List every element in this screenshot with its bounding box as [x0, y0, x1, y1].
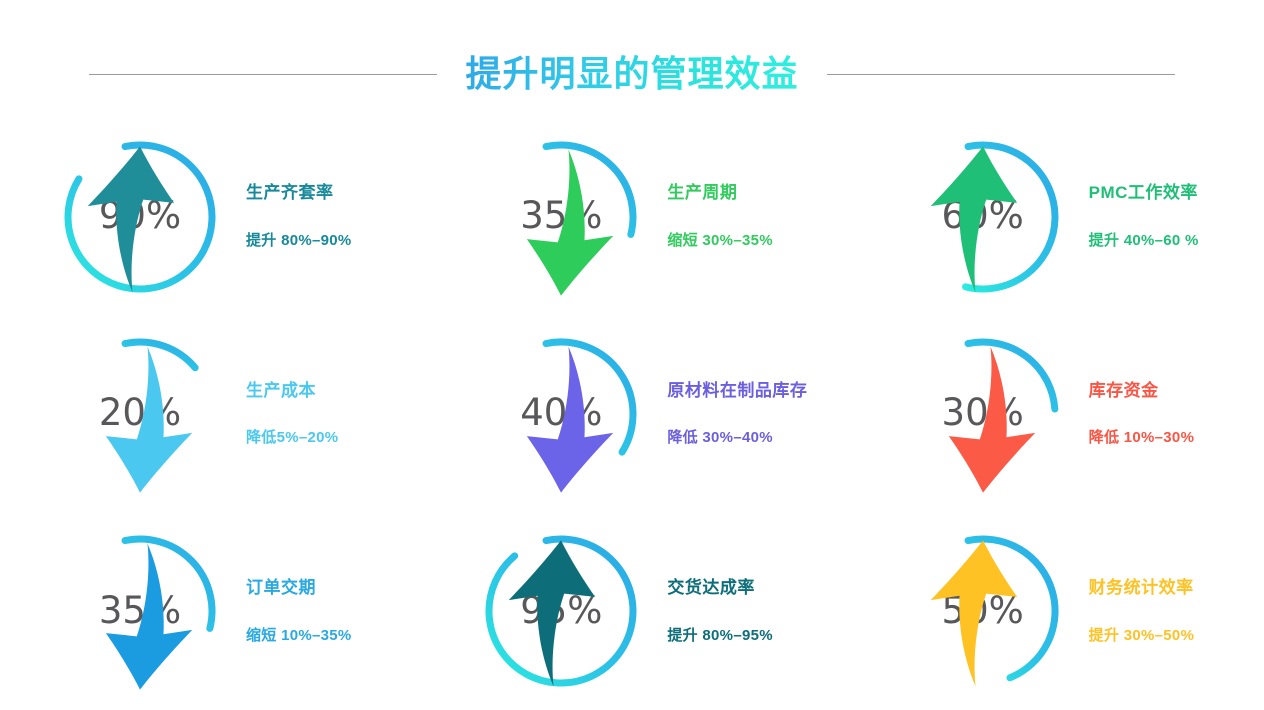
metric-labels: 原材料在制品库存降低 30%–40% — [667, 381, 807, 447]
metric-name: 原材料在制品库存 — [667, 381, 807, 401]
metric-card: 20%生产成本降低5%–20% — [0, 315, 421, 512]
metric-card: 60%PMC工作效率提升 40%–60 % — [843, 118, 1264, 315]
gauge-dial: 35% — [60, 531, 220, 691]
gauge-center: 90% — [60, 137, 220, 297]
gauge-dial: 90% — [60, 137, 220, 297]
metric-name: 订单交期 — [246, 578, 316, 598]
metric-delta: 缩短 30%–35% — [667, 232, 773, 250]
metric-card: 35%订单交期缩短 10%–35% — [0, 513, 421, 710]
metric-labels: 交货达成率提升 80%–95% — [667, 578, 773, 644]
metric-delta: 降低 30%–40% — [667, 429, 773, 447]
gauge-dial: 50% — [903, 531, 1063, 691]
gauge-dial: 95% — [481, 531, 641, 691]
gauge-dial: 30% — [903, 334, 1063, 494]
arrow-up-icon — [60, 141, 220, 301]
arrow-down-icon — [481, 338, 641, 498]
arrow-down-icon — [903, 338, 1063, 498]
metric-name: 库存资金 — [1089, 381, 1159, 401]
metric-card: 35%生产周期缩短 30%–35% — [421, 118, 842, 315]
gauge-center: 40% — [481, 334, 641, 494]
header-rule-left — [89, 74, 437, 75]
metric-name: 生产周期 — [667, 183, 737, 203]
metric-name: PMC工作效率 — [1089, 183, 1198, 203]
gauge-center: 95% — [481, 531, 641, 691]
arrow-up-icon — [903, 141, 1063, 301]
gauge-center: 30% — [903, 334, 1063, 494]
page-title: 提升明显的管理效益 — [465, 54, 798, 94]
arrow-up-icon — [903, 535, 1063, 695]
metric-card: 40%原材料在制品库存降低 30%–40% — [421, 315, 842, 512]
metric-labels: 财务统计效率提升 30%–50% — [1089, 578, 1195, 644]
metric-card: 95%交货达成率提升 80%–95% — [421, 513, 842, 710]
arrow-down-icon — [481, 141, 641, 301]
metric-delta: 降低 10%–30% — [1089, 429, 1195, 447]
metric-labels: 订单交期缩短 10%–35% — [246, 578, 352, 644]
gauge-center: 50% — [903, 531, 1063, 691]
arrow-down-icon — [60, 338, 220, 498]
gauge-center: 35% — [60, 531, 220, 691]
gauge-center: 60% — [903, 137, 1063, 297]
metric-delta: 降低5%–20% — [246, 429, 338, 447]
arrow-up-icon — [481, 535, 641, 695]
gauge-dial: 60% — [903, 137, 1063, 297]
gauge-center: 35% — [481, 137, 641, 297]
metric-delta: 提升 40%–60 % — [1089, 232, 1199, 250]
metric-name: 财务统计效率 — [1089, 578, 1194, 598]
metric-card: 30%库存资金降低 10%–30% — [843, 315, 1264, 512]
metric-labels: 生产周期缩短 30%–35% — [667, 183, 773, 249]
gauge-center: 20% — [60, 334, 220, 494]
metric-name: 生产成本 — [246, 381, 316, 401]
metric-delta: 提升 30%–50% — [1089, 627, 1195, 645]
metric-name: 交货达成率 — [667, 578, 755, 598]
arrow-down-icon — [60, 535, 220, 695]
header-rule-right — [827, 74, 1175, 75]
page-header: 提升明显的管理效益 — [0, 44, 1264, 104]
metric-name: 生产齐套率 — [246, 183, 334, 203]
metric-delta: 提升 80%–95% — [667, 627, 773, 645]
metric-card: 90%生产齐套率提升 80%–90% — [0, 118, 421, 315]
metric-grid: 90%生产齐套率提升 80%–90%35%生产周期缩短 30%–35%60%PM… — [0, 118, 1264, 710]
metric-labels: 生产成本降低5%–20% — [246, 381, 338, 447]
metric-delta: 缩短 10%–35% — [246, 627, 352, 645]
metric-labels: PMC工作效率提升 40%–60 % — [1089, 183, 1199, 249]
metric-delta: 提升 80%–90% — [246, 232, 352, 250]
metric-labels: 生产齐套率提升 80%–90% — [246, 183, 352, 249]
gauge-dial: 35% — [481, 137, 641, 297]
gauge-dial: 20% — [60, 334, 220, 494]
gauge-dial: 40% — [481, 334, 641, 494]
metric-card: 50%财务统计效率提升 30%–50% — [843, 513, 1264, 710]
metric-labels: 库存资金降低 10%–30% — [1089, 381, 1195, 447]
